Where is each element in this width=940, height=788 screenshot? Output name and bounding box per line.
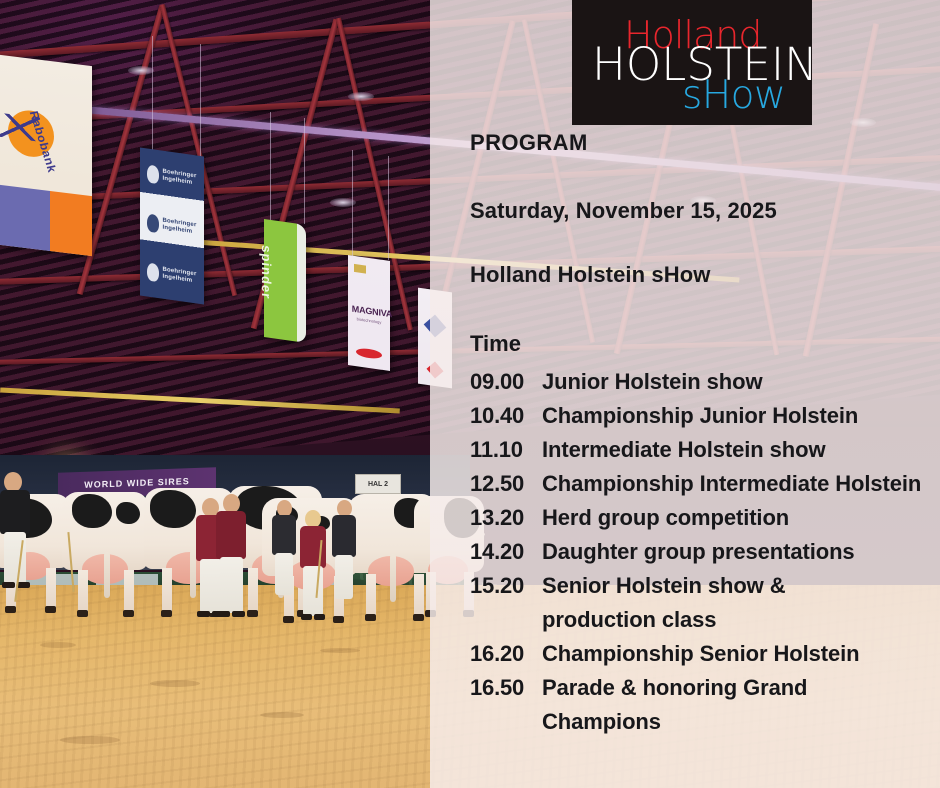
poster-root: Rabobank BoehringerIngelheim BoehringerI… (0, 0, 940, 788)
hall-sign: HAL 2 (355, 474, 401, 494)
schedule-time: 15.20 (470, 569, 542, 603)
handler (216, 494, 248, 620)
handler-legs (275, 553, 293, 595)
boehringer-logo-icon (147, 164, 159, 184)
cow-hoof (333, 616, 344, 623)
banner-rabobank: Rabobank (0, 54, 92, 256)
handler-head (4, 472, 22, 492)
banner-cord (152, 36, 153, 154)
schedule-row: 15.20 Senior Holstein show & production … (470, 569, 935, 637)
handler-torso (332, 515, 356, 557)
handler-shoe (17, 582, 30, 588)
cow-leg (248, 568, 258, 612)
handler-torso (0, 490, 30, 534)
boehringer-logo-icon (147, 263, 159, 283)
cow-hoof (365, 614, 376, 621)
schedule-time: 11.10 (470, 433, 542, 467)
handler-shoe (2, 582, 15, 588)
handler-torso (300, 526, 326, 568)
banner-cord (270, 112, 271, 224)
floor-texture (40, 642, 76, 648)
banner-cord (200, 44, 201, 156)
handler-shoe (217, 611, 230, 617)
cow (62, 492, 148, 618)
schedule-time: 16.50 (470, 671, 542, 705)
schedule-row: 12.50 Championship Intermediate Holstein (470, 467, 935, 501)
cow-leg (366, 574, 376, 616)
schedule-time: 10.40 (470, 399, 542, 433)
cow-hoof (161, 610, 172, 617)
cow-patch (116, 502, 140, 524)
schedule-description: Championship Intermediate Holstein (542, 467, 922, 501)
handler-legs (303, 566, 323, 616)
schedule-time: 09.00 (470, 365, 542, 399)
schedule-description: Parade & honoring Grand Champions (542, 671, 882, 739)
schedule-description: Intermediate Holstein show (542, 433, 825, 467)
handler (300, 510, 328, 622)
floor-texture (150, 680, 200, 687)
handler-shoe (301, 614, 312, 620)
schedule-row: 16.50 Parade & honoring Grand Champions (470, 671, 935, 739)
schedule-row: 09.00 Junior Holstein show (470, 365, 935, 399)
cow-hoof (45, 606, 56, 613)
cow-leg (162, 568, 172, 612)
schedule-row: 14.20 Daughter group presentations (470, 535, 935, 569)
schedule-description: Junior Holstein show (542, 365, 762, 399)
schedule-time: 16.20 (470, 637, 542, 671)
cow-hoof (123, 610, 134, 617)
schedule-description: Championship Senior Holstein (542, 637, 859, 671)
handler-shoe (197, 611, 210, 617)
handler (332, 500, 358, 604)
bi-cell: BoehringerIngelheim (140, 148, 204, 206)
magniva-pill-icon (356, 347, 382, 360)
cow-tail (390, 554, 396, 602)
bi-cell: BoehringerIngelheim (140, 197, 204, 255)
rabobank-color-strip (0, 184, 92, 256)
schedule-row: 10.40 Championship Junior Holstein (470, 399, 935, 433)
cow-hoof (283, 616, 294, 623)
banner-cord (304, 118, 305, 224)
cow-patch (72, 494, 112, 528)
logo-text-show: sHow (682, 76, 785, 115)
schedule-row: 11.10 Intermediate Holstein show (470, 433, 935, 467)
cow-patch (150, 490, 196, 528)
schedule-list: 09.00 Junior Holstein show 10.40 Champio… (470, 365, 935, 739)
banner-magniva: MAGNIVA biotechnology (348, 255, 390, 371)
schedule-time: 14.20 (470, 535, 542, 569)
schedule-time: 13.20 (470, 501, 542, 535)
banner-boehringer-ingelheim: BoehringerIngelheim BoehringerIngelheim … (140, 148, 204, 305)
handler-shoe (232, 611, 245, 617)
magniva-mark-icon (354, 264, 366, 274)
cow-hoof (5, 606, 16, 613)
cow-hoof (77, 610, 88, 617)
event-date: Saturday, November 15, 2025 (470, 198, 777, 224)
handler (272, 500, 298, 600)
cow-leg (78, 570, 88, 612)
schedule-description: Daughter group presentations (542, 535, 855, 569)
banner-cord (352, 150, 353, 260)
boehringer-logo-icon (147, 213, 159, 233)
ceiling-light (128, 66, 154, 75)
banner-spinder: spinder (264, 219, 306, 343)
schedule-time: 12.50 (470, 467, 542, 501)
holland-holstein-show-logo: Holland HOLSTEIN sHow (572, 0, 812, 125)
handler-torso (272, 515, 296, 555)
schedule-row: 13.20 Herd group competition (470, 501, 935, 535)
handler-torso (216, 511, 246, 559)
schedule-row: 16.20 Championship Senior Holstein (470, 637, 935, 671)
bi-cell: BoehringerIngelheim (140, 246, 204, 304)
spinder-label: spinder (259, 244, 274, 300)
handler-legs (220, 557, 243, 613)
cow-hoof (247, 610, 258, 617)
page-title: PROGRAM (470, 130, 588, 156)
cow-leg (124, 570, 134, 612)
floor-texture (60, 736, 120, 744)
schedule-description: Senior Holstein show & production class (542, 569, 872, 637)
time-column-header: Time (470, 331, 521, 357)
event-name: Holland Holstein sHow (470, 262, 710, 288)
handler-legs (335, 555, 353, 599)
cow-tail (104, 552, 110, 598)
cow-leg (46, 568, 56, 608)
floor-texture (260, 712, 304, 718)
schedule-description: Herd group competition (542, 501, 789, 535)
ceiling-light (348, 92, 374, 101)
floor-texture (320, 648, 360, 653)
banner-cord (388, 156, 389, 260)
handler-shoe (314, 614, 325, 620)
schedule-description: Championship Junior Holstein (542, 399, 858, 433)
